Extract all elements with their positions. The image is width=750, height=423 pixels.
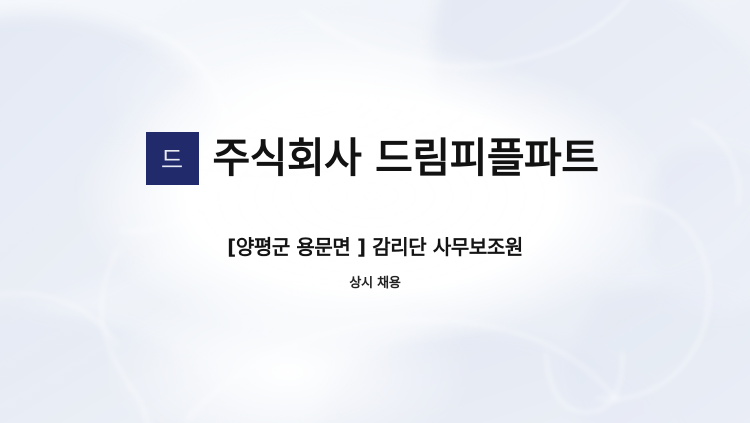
company-name: 주식회사 드림피플파트 [213, 136, 599, 181]
company-logo-badge: 드 [146, 132, 199, 185]
company-title-row: 드 주식회사 드림피플파트 [146, 132, 599, 185]
recruit-status: 상시 채용 [349, 272, 400, 291]
job-title: [양평군 용문면 ] 감리단 사무보조원 [227, 231, 523, 260]
hangul-deu-logo-glyph-icon: 드 [161, 148, 183, 172]
job-posting-banner: 드 주식회사 드림피플파트 [양평군 용문면 ] 감리단 사무보조원 상시 채용 [0, 0, 750, 423]
banner-content: 드 주식회사 드림피플파트 [양평군 용문면 ] 감리단 사무보조원 상시 채용 [0, 0, 750, 423]
